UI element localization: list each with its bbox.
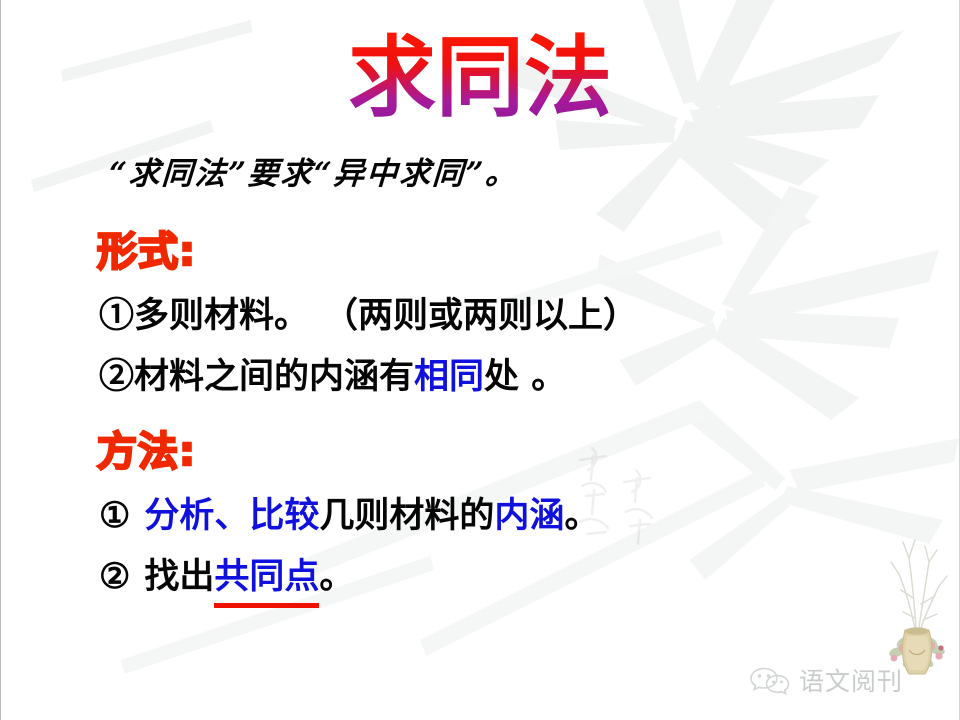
method-item-1-marker: ① bbox=[99, 495, 130, 536]
method-item-2-highlight-underlined: 共同点 bbox=[214, 556, 319, 599]
form-item-1-marker: ① bbox=[99, 295, 134, 336]
wechat-footer: 语文阅刊 bbox=[748, 662, 903, 698]
method-item-2-text: 找出 bbox=[144, 556, 214, 597]
method-item-1: ①分析、比较几则材料的内涵。 bbox=[99, 487, 599, 538]
form-item-2-text-a: 材料之间的内涵有 bbox=[134, 356, 414, 397]
slide-title-wordart: 求同法 bbox=[290, 22, 670, 132]
form-item-2-text-b: 处 。 bbox=[484, 356, 566, 397]
form-item-2-highlight: 相同 bbox=[414, 356, 484, 397]
section-heading-method: 方法: bbox=[97, 419, 196, 477]
title-fill: 求同法 bbox=[348, 25, 612, 129]
form-item-2: ②材料之间的内涵有相同处 。 bbox=[99, 348, 566, 399]
form-item-1-text: 多则材料。 bbox=[134, 295, 309, 336]
form-item-1-paren: （两则或两则以上） bbox=[323, 295, 638, 336]
slide-title-wrap: 求同法 bbox=[1, 22, 959, 135]
method-item-2-marker: ② bbox=[99, 556, 130, 597]
slide-canvas: 求同法 “求同法”要求“异中求同”。 形式: ①多则材料。（两则或两则以上） ②… bbox=[0, 0, 960, 720]
method-item-1-highlight-b: 内涵 bbox=[494, 495, 564, 536]
method-item-1-text: 几则材料的 bbox=[319, 495, 494, 536]
method-item-1-highlight-a: 分析、比较 bbox=[144, 495, 319, 536]
method-item-2: ②找出共同点。 bbox=[99, 548, 354, 599]
wechat-label: 语文阅刊 bbox=[799, 662, 903, 698]
wechat-icon bbox=[748, 665, 790, 695]
section-heading-form: 形式: bbox=[97, 219, 196, 277]
form-item-1: ①多则材料。（两则或两则以上） bbox=[99, 287, 638, 338]
slide-subtitle: “求同法”要求“异中求同”。 bbox=[108, 148, 520, 193]
floral-decoration bbox=[879, 520, 953, 680]
method-item-1-period: 。 bbox=[564, 495, 599, 536]
form-item-2-marker: ② bbox=[99, 356, 134, 397]
method-item-2-period: 。 bbox=[319, 556, 354, 597]
